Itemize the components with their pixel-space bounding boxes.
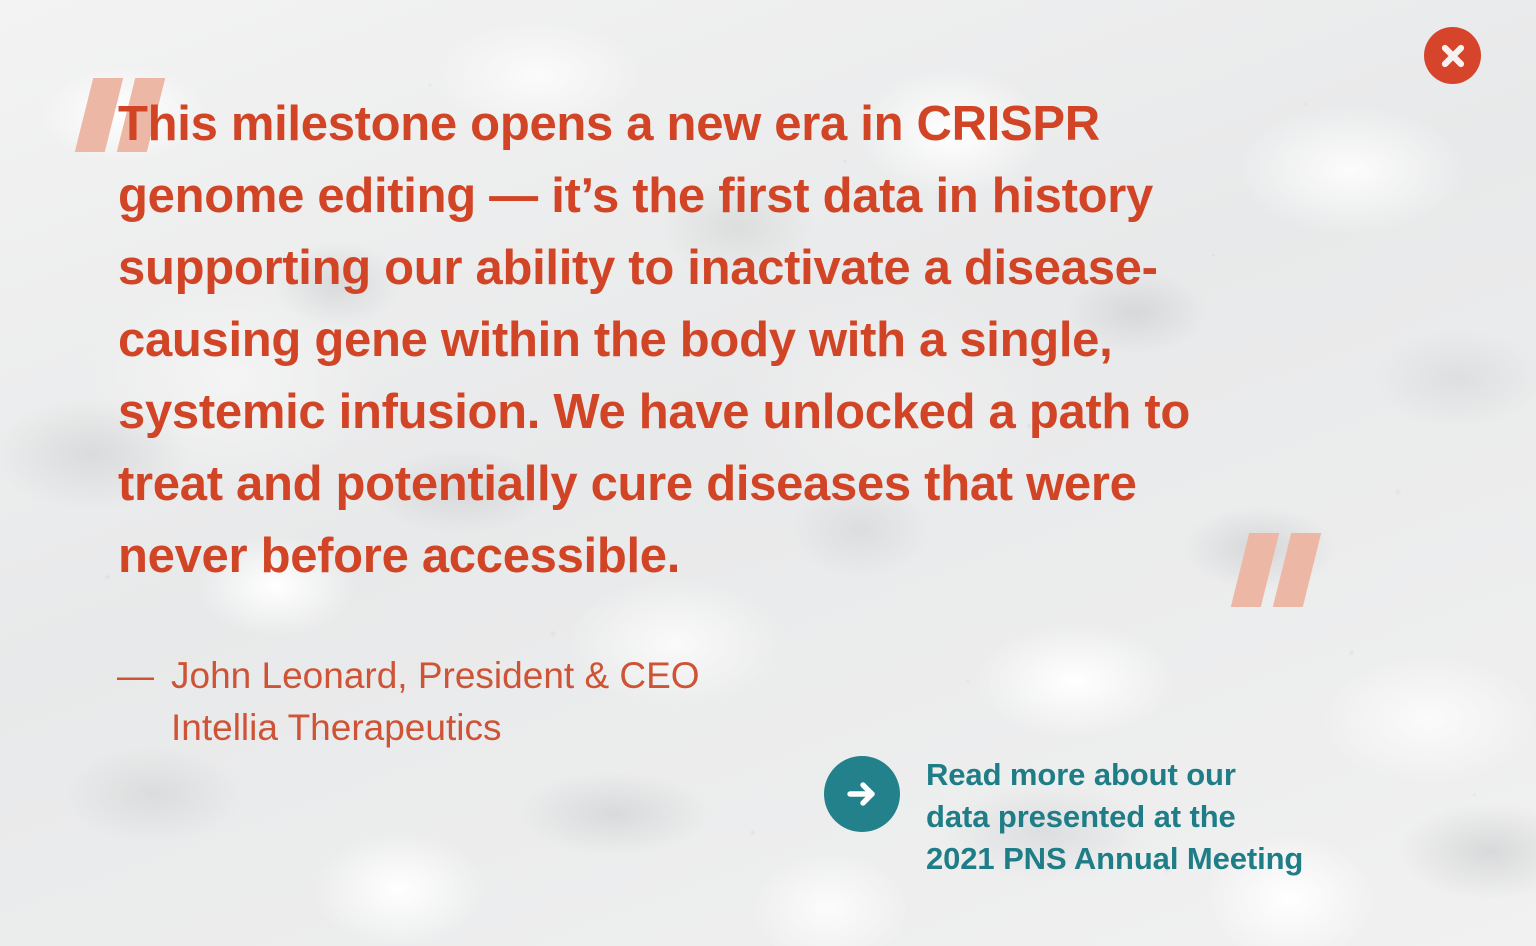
quote-card: This milestone opens a new era in CRISPR… [0,0,1536,946]
close-icon [1438,41,1468,71]
close-button[interactable] [1424,27,1481,84]
attribution-dash-spacer [117,702,171,754]
attribution-organization-line: Intellia Therapeutics [117,702,700,754]
read-more-link[interactable]: Read more about our data presented at th… [824,754,1303,880]
quote-body-text: This milestone opens a new era in CRISPR… [118,88,1318,592]
read-more-label: Read more about our data presented at th… [926,754,1303,880]
attribution-organization: Intellia Therapeutics [171,702,501,754]
attribution-dash: — [117,650,171,702]
attribution-name: John Leonard, President & CEO [171,650,700,702]
arrow-right-icon [824,756,900,832]
attribution-name-line: — John Leonard, President & CEO [117,650,700,702]
attribution: — John Leonard, President & CEO Intellia… [117,650,700,754]
